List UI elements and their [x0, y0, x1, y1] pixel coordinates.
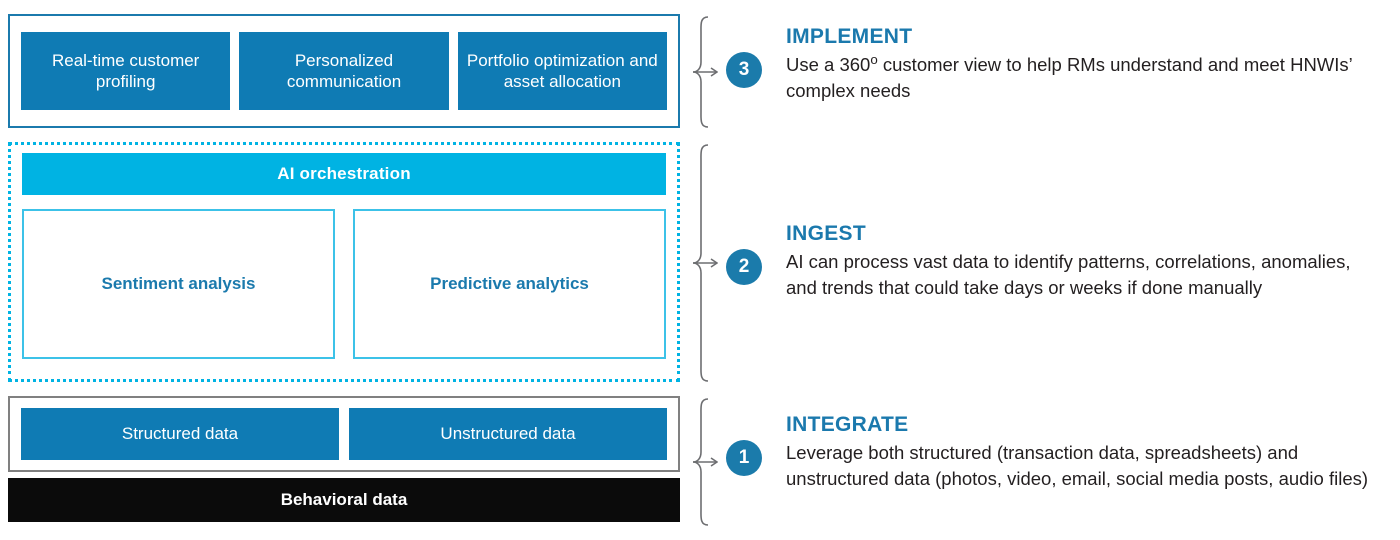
- step-title-ingest: INGEST: [786, 222, 1386, 246]
- step-body-integrate: INTEGRATE Leverage both structured (tran…: [786, 413, 1386, 493]
- step-number-badge-1: 1: [726, 440, 762, 476]
- step-description-ingest: AI can process vast data to identify pat…: [786, 249, 1386, 302]
- degree-superscript: o: [870, 52, 877, 67]
- step-ingest: 2 INGEST AI can process vast data to ide…: [726, 222, 1386, 302]
- step-title-integrate: INTEGRATE: [786, 413, 1386, 437]
- integrate-cell-unstructured-data: Unstructured data: [349, 408, 667, 460]
- structured-data-group: Structured data Unstructured data: [8, 396, 680, 472]
- analytics-row: Sentiment analysis Predictive analytics: [22, 209, 666, 359]
- implement-tier-box: Real-time customer profiling Personalize…: [8, 14, 680, 128]
- behavioral-data-bar: Behavioral data: [8, 478, 680, 522]
- integrate-tier-box: Structured data Unstructured data Behavi…: [8, 396, 680, 526]
- capability-stack-diagram: Real-time customer profiling Personalize…: [8, 0, 680, 540]
- step-integrate: 1 INTEGRATE Leverage both structured (tr…: [726, 413, 1386, 493]
- step-desc-part-1: Use a 360: [786, 54, 870, 75]
- step-description-implement: Use a 360o customer view to help RMs und…: [786, 52, 1386, 105]
- curly-brace-icon-implement: [692, 16, 718, 128]
- implement-cell-real-time-customer-profiling: Real-time customer profiling: [21, 32, 230, 110]
- step-number-badge-2: 2: [726, 249, 762, 285]
- integrate-cell-structured-data: Structured data: [21, 408, 339, 460]
- implement-cell-personalized-communication: Personalized communication: [239, 32, 448, 110]
- implement-cell-portfolio-optimization: Portfolio optimization and asset allocat…: [458, 32, 667, 110]
- ai-orchestration-bar: AI orchestration: [22, 153, 666, 195]
- curly-brace-icon-integrate: [692, 398, 718, 526]
- step-number-badge-3: 3: [726, 52, 762, 88]
- ingest-cell-predictive-analytics: Predictive analytics: [353, 209, 666, 359]
- step-title-implement: IMPLEMENT: [786, 25, 1386, 49]
- curly-brace-icon-ingest: [692, 144, 718, 382]
- step-body-ingest: INGEST AI can process vast data to ident…: [786, 222, 1386, 302]
- step-implement: 3 IMPLEMENT Use a 360o customer view to …: [726, 25, 1386, 105]
- step-description-integrate: Leverage both structured (transaction da…: [786, 440, 1386, 493]
- step-body-implement: IMPLEMENT Use a 360o customer view to he…: [786, 25, 1386, 105]
- ingest-cell-sentiment-analysis: Sentiment analysis: [22, 209, 335, 359]
- ingest-tier-box: AI orchestration Sentiment analysis Pred…: [8, 142, 680, 382]
